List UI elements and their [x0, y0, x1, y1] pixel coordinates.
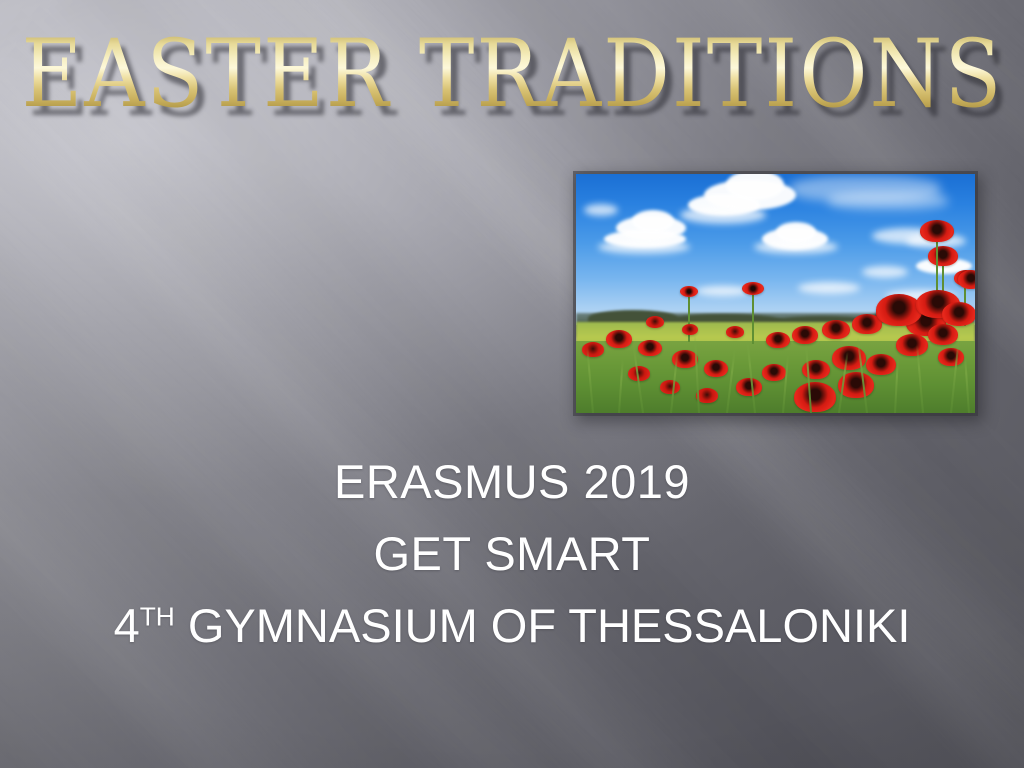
poppy-flower [792, 326, 818, 344]
poppy-flower [876, 294, 922, 326]
slide-title-text: EASTER TRADITIONS [21, 20, 1003, 129]
poppy-flower [920, 220, 954, 242]
poppy-flower [646, 316, 664, 328]
school-name-text: GYMNASIUM OF THESSALONIKI [175, 599, 911, 652]
poppy-flower [606, 330, 632, 348]
poppy-flower [942, 302, 975, 326]
poppy-flower [704, 360, 728, 377]
poppy-flower [822, 320, 850, 339]
poppy-flower [680, 286, 698, 297]
poppy-field-image-content [576, 174, 975, 413]
poppy-flower [928, 324, 958, 345]
poppy-flower [938, 348, 964, 366]
poppy-field-image [576, 174, 975, 413]
poppy-flower [928, 246, 958, 266]
cloud-icon [798, 282, 860, 294]
poppy-flower [742, 282, 764, 295]
poppy-flower [794, 382, 836, 412]
poppy-flower [762, 364, 786, 381]
cloud-icon [680, 206, 766, 224]
cloud-icon [598, 240, 690, 254]
poppy-flower [638, 340, 662, 356]
school-ordinal-suffix: TH [140, 601, 175, 631]
poppy-flower [766, 332, 790, 348]
poppy-stem [752, 292, 754, 344]
cloud-icon [632, 210, 674, 232]
poppy-flower [866, 354, 896, 375]
slide-title-container: EASTER TRADITIONS EASTER TRADITIONS [0, 26, 1024, 125]
subtitle-line-erasmus: ERASMUS 2019 [0, 446, 1024, 518]
cloud-icon [862, 266, 908, 278]
cloud-icon [828, 192, 948, 210]
cloud-icon [776, 222, 816, 242]
slide-subtitle-block: ERASMUS 2019 GET SMART 4TH GYMNASIUM OF … [0, 446, 1024, 662]
slide-title: EASTER TRADITIONS EASTER TRADITIONS [21, 26, 1003, 125]
poppy-flower [726, 326, 744, 338]
subtitle-line-get-smart: GET SMART [0, 518, 1024, 590]
cloud-icon [754, 240, 838, 254]
poppy-flower [736, 378, 762, 396]
poppy-flower [896, 334, 928, 356]
cloud-icon [584, 204, 618, 216]
poppy-flower [660, 380, 680, 394]
poppy-flower [958, 270, 975, 289]
school-ordinal-number: 4 [114, 599, 140, 652]
poppy-flower [582, 342, 604, 357]
poppy-flower [682, 324, 698, 335]
presentation-slide: EASTER TRADITIONS EASTER TRADITIONS [0, 0, 1024, 768]
subtitle-line-school: 4TH GYMNASIUM OF THESSALONIKI [0, 590, 1024, 662]
